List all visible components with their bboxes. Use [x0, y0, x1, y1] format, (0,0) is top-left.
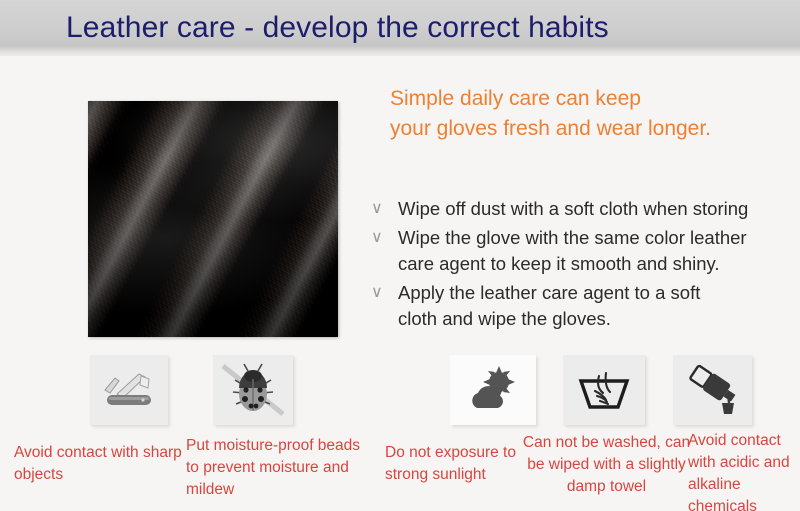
care-item-line-1: Apply the leather care agent to a soft	[398, 282, 700, 303]
leather-texture-photo	[88, 101, 338, 337]
care-instructions-list: ∨ Wipe off dust with a soft cloth when s…	[371, 196, 800, 335]
leather-sheen-overlay	[88, 101, 338, 337]
warning-caption: Can not be washed, can be wiped with a s…	[519, 432, 694, 498]
check-icon: ∨	[371, 226, 383, 250]
warning-tile-sharp-objects	[90, 355, 168, 425]
pocket-knife-icon	[99, 368, 159, 412]
care-list-item: ∨ Wipe the glove with the same color lea…	[371, 225, 800, 277]
care-item-line-1: Wipe off dust with a soft cloth when sto…	[398, 198, 748, 219]
warning-caption: Do not exposure to strong sunlight	[385, 442, 535, 486]
subtitle: Simple daily care can keep your gloves f…	[390, 84, 800, 144]
sun-cloud-icon	[463, 364, 523, 416]
care-item-line-2: care agent to keep it smooth and shiny.	[398, 251, 800, 277]
care-item-line-1: Wipe the glove with the same color leath…	[398, 227, 747, 248]
warning-tile-no-wash	[563, 355, 645, 425]
warning-tile-no-chemicals	[673, 355, 752, 425]
warning-caption: Avoid contact with sharp objects	[14, 442, 189, 486]
ladybug-no-icon	[221, 360, 285, 420]
care-list-item: ∨ Apply the leather care agent to a soft…	[371, 280, 800, 332]
warning-tile-no-sunlight	[450, 355, 536, 425]
hand-wash-basin-icon	[575, 367, 633, 413]
subtitle-line-1: Simple daily care can keep	[390, 84, 800, 114]
care-item-line-2: cloth and wipe the gloves.	[398, 306, 800, 332]
page-title: Leather care - develop the correct habit…	[66, 9, 609, 47]
subtitle-line-2: your gloves fresh and wear longer.	[390, 114, 800, 144]
check-icon: ∨	[371, 197, 383, 221]
care-list-item: ∨ Wipe off dust with a soft cloth when s…	[371, 196, 800, 222]
check-icon: ∨	[371, 281, 383, 305]
warning-caption: Put moisture-proof beads to prevent mois…	[186, 435, 366, 501]
warning-caption: Avoid contact with acidic and alkaline c…	[688, 430, 800, 511]
chemical-pour-icon	[685, 365, 741, 415]
leather-care-infographic: Leather care - develop the correct habit…	[0, 0, 800, 511]
warning-tile-moisture-beads	[213, 355, 293, 425]
